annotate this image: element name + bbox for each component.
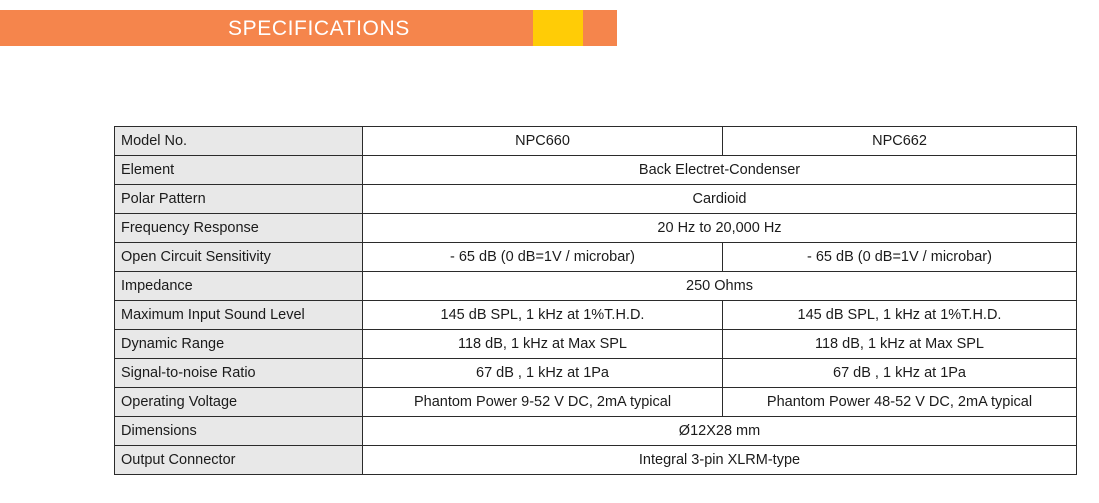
spec-value-cell-shared: 20 Hz to 20,000 Hz	[363, 214, 1077, 243]
table-row: DimensionsØ12X28 mm	[115, 417, 1077, 446]
spec-value-cell-npc660: Phantom Power 9-52 V DC, 2mA typical	[363, 388, 723, 417]
spec-label-cell: Impedance	[115, 272, 363, 301]
spec-value-cell-npc660: 145 dB SPL, 1 kHz at 1%T.H.D.	[363, 301, 723, 330]
table-row: Frequency Response20 Hz to 20,000 Hz	[115, 214, 1077, 243]
spec-label-cell: Output Connector	[115, 446, 363, 475]
spec-value-cell-shared: Ø12X28 mm	[363, 417, 1077, 446]
spec-value-cell-npc660: 118 dB, 1 kHz at Max SPL	[363, 330, 723, 359]
spec-value-cell-shared: Integral 3-pin XLRM-type	[363, 446, 1077, 475]
spec-value-cell-shared: Back Electret-Condenser	[363, 156, 1077, 185]
spec-value-cell-npc662: 145 dB SPL, 1 kHz at 1%T.H.D.	[723, 301, 1077, 330]
spec-value-cell-npc660: - 65 dB (0 dB=1V / microbar)	[363, 243, 723, 272]
spec-label-cell: Model No.	[115, 127, 363, 156]
table-row: Output ConnectorIntegral 3-pin XLRM-type	[115, 446, 1077, 475]
table-row: Open Circuit Sensitivity- 65 dB (0 dB=1V…	[115, 243, 1077, 272]
table-row: Signal-to-noise Ratio67 dB , 1 kHz at 1P…	[115, 359, 1077, 388]
spec-label-cell: Frequency Response	[115, 214, 363, 243]
table-row: Dynamic Range118 dB, 1 kHz at Max SPL118…	[115, 330, 1077, 359]
spec-label-cell: Polar Pattern	[115, 185, 363, 214]
table-row: ElementBack Electret-Condenser	[115, 156, 1077, 185]
spec-value-cell-shared: 250 Ohms	[363, 272, 1077, 301]
spec-value-cell-npc662: NPC662	[723, 127, 1077, 156]
table-row: Impedance250 Ohms	[115, 272, 1077, 301]
spec-label-cell: Operating Voltage	[115, 388, 363, 417]
spec-value-cell-npc662: 118 dB, 1 kHz at Max SPL	[723, 330, 1077, 359]
banner-orange-block: SPECIFICATIONS	[0, 10, 533, 46]
spec-value-cell-npc660: 67 dB , 1 kHz at 1Pa	[363, 359, 723, 388]
table-row: Operating VoltagePhantom Power 9-52 V DC…	[115, 388, 1077, 417]
page-title: SPECIFICATIONS	[228, 18, 410, 39]
banner-orange-accent	[583, 10, 617, 46]
spec-value-cell-npc662: 67 dB , 1 kHz at 1Pa	[723, 359, 1077, 388]
spec-label-cell: Maximum Input Sound Level	[115, 301, 363, 330]
specifications-table-body: Model No.NPC660NPC662ElementBack Electre…	[115, 127, 1077, 475]
spec-value-cell-npc660: NPC660	[363, 127, 723, 156]
spec-value-cell-shared: Cardioid	[363, 185, 1077, 214]
table-row: Model No.NPC660NPC662	[115, 127, 1077, 156]
spec-label-cell: Open Circuit Sensitivity	[115, 243, 363, 272]
spec-label-cell: Signal-to-noise Ratio	[115, 359, 363, 388]
spec-value-cell-npc662: - 65 dB (0 dB=1V / microbar)	[723, 243, 1077, 272]
table-row: Maximum Input Sound Level145 dB SPL, 1 k…	[115, 301, 1077, 330]
spec-label-cell: Dimensions	[115, 417, 363, 446]
spec-label-cell: Dynamic Range	[115, 330, 363, 359]
banner-yellow-accent	[533, 10, 583, 46]
specifications-table-container: Model No.NPC660NPC662ElementBack Electre…	[114, 126, 1076, 475]
specifications-table: Model No.NPC660NPC662ElementBack Electre…	[114, 126, 1077, 475]
specifications-banner: SPECIFICATIONS	[0, 10, 617, 46]
table-row: Polar PatternCardioid	[115, 185, 1077, 214]
spec-value-cell-npc662: Phantom Power 48-52 V DC, 2mA typical	[723, 388, 1077, 417]
spec-label-cell: Element	[115, 156, 363, 185]
